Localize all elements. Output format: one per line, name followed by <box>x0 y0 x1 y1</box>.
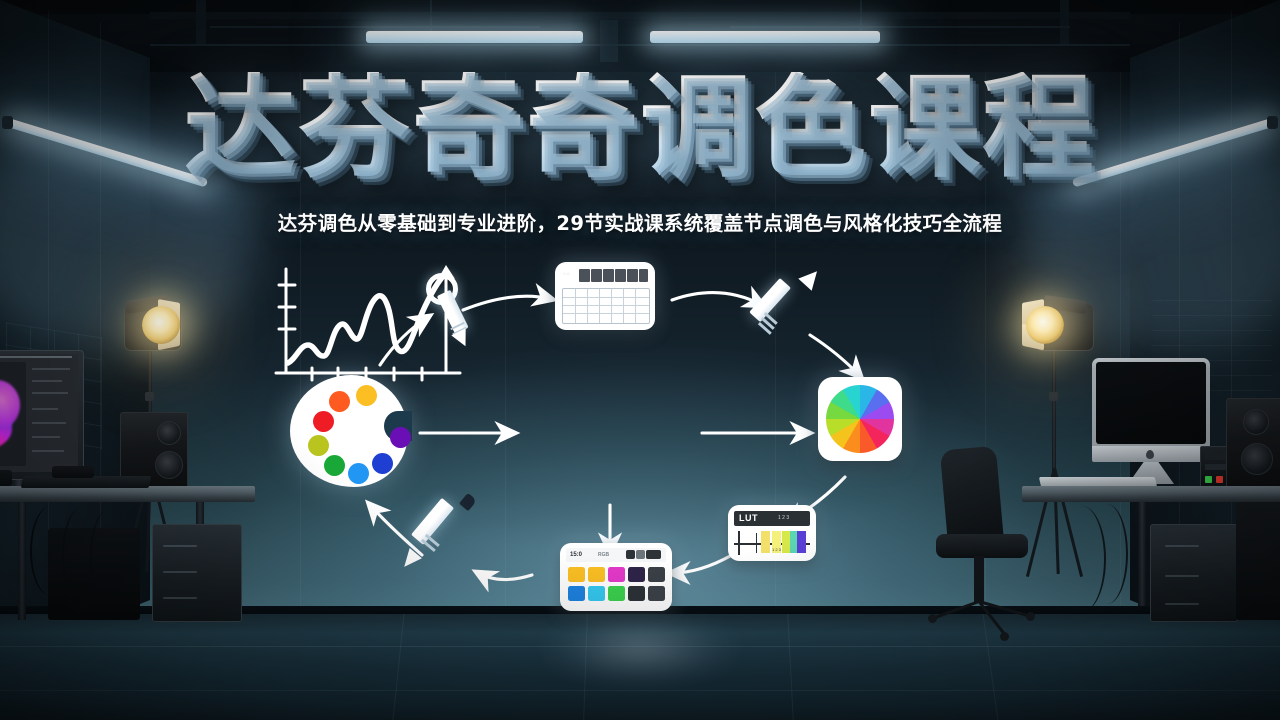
palette-dot <box>372 453 393 474</box>
light-lens <box>142 306 180 344</box>
lut-numbers: 1 2 3 <box>778 516 789 521</box>
drawer-unit-left[interactable] <box>152 524 242 622</box>
imac-screen <box>1096 362 1206 444</box>
ceiling-duct <box>600 20 618 62</box>
gamut-blob <box>0 380 20 430</box>
gamut-scope <box>0 362 26 466</box>
desk-device <box>52 466 94 478</box>
desk-device <box>0 470 12 486</box>
spreadsheet-card[interactable]: Edit <box>555 262 655 330</box>
speaker-tweeter <box>1243 409 1269 435</box>
color-wheel <box>826 385 894 453</box>
light-lens <box>1026 306 1064 344</box>
monitor-screen <box>0 354 78 472</box>
desk-leg <box>1138 502 1146 606</box>
led-red <box>1216 476 1223 483</box>
pencil-tip <box>798 265 823 290</box>
page-subtitle: 达芬调色从零基础到专业进阶，29节实战课系统覆盖节点调色与风格化技巧全流程 <box>0 207 1280 236</box>
spreadsheet-corner-label: Edit <box>563 272 570 276</box>
chair-caster <box>1026 612 1035 621</box>
curve-chart <box>270 255 470 405</box>
imac <box>1092 358 1210 462</box>
title-block: 达芬奇奇调色课程 <box>0 72 1280 184</box>
marker-icon <box>400 495 490 587</box>
light-stand <box>1052 330 1056 490</box>
desk-surface-left <box>0 486 255 502</box>
imac-chin <box>1092 446 1210 462</box>
lut-title: LUT <box>739 514 758 523</box>
swatch <box>588 567 605 582</box>
swatch <box>568 567 585 582</box>
swatch-card[interactable]: 15:0 RGB <box>560 543 672 611</box>
speaker-woofer <box>1241 443 1273 475</box>
promo-banner-stage: Edit <box>0 0 1280 720</box>
swatch <box>648 567 665 582</box>
palette-dot <box>313 411 334 432</box>
ceiling-line <box>210 26 540 28</box>
stand-knob <box>1049 392 1058 401</box>
pencil-icon <box>756 269 826 349</box>
swatch <box>588 586 605 601</box>
speaker-woofer <box>155 451 183 479</box>
swatch-header-sub: RGB <box>598 553 609 558</box>
ceiling-beam <box>150 12 1130 19</box>
apple-logo-icon <box>1146 450 1154 459</box>
drawer-unit-right[interactable] <box>1150 524 1238 622</box>
color-wheel-card[interactable] <box>818 377 902 461</box>
lut-card[interactable]: LUT 1 2 3 1 2 3 <box>728 505 816 561</box>
studio-speaker-right <box>1226 398 1280 492</box>
speaker-tweeter <box>157 421 181 445</box>
palette-dot <box>390 427 411 448</box>
desk-surface-right <box>1022 486 1280 502</box>
page-title: 达芬奇奇调色课程 <box>184 72 1096 184</box>
under-desk-case <box>1236 502 1280 620</box>
swatch <box>568 586 585 601</box>
ceiling-strip-light <box>650 31 880 43</box>
ceiling-line <box>730 26 1070 28</box>
swatch <box>608 586 625 601</box>
led-green <box>1205 476 1212 483</box>
spreadsheet-grid <box>562 288 650 324</box>
stand-knob <box>145 392 154 401</box>
swatch <box>608 567 625 582</box>
swatch-header-value: 15:0 <box>570 552 582 558</box>
ceiling-strip-light <box>366 31 583 43</box>
swatch <box>628 567 645 582</box>
palette-dot <box>308 435 329 456</box>
workflow-diagram: Edit <box>270 255 1010 645</box>
floor-tile-line <box>0 690 1280 691</box>
lut-axis-labels: 1 2 3 <box>772 548 781 552</box>
marker-nib <box>459 493 477 511</box>
palette-dot <box>324 455 345 476</box>
marker-end <box>398 548 422 572</box>
ceiling-duct <box>1060 0 1069 44</box>
desk-leg <box>18 502 26 620</box>
palette-dot <box>348 463 369 484</box>
cable <box>1058 506 1106 612</box>
cable <box>90 512 122 604</box>
swatch <box>648 586 665 601</box>
ceiling-line <box>150 44 1130 46</box>
floor-tile-line <box>0 646 1280 647</box>
swatch <box>628 586 645 601</box>
ceiling-duct <box>196 0 206 46</box>
